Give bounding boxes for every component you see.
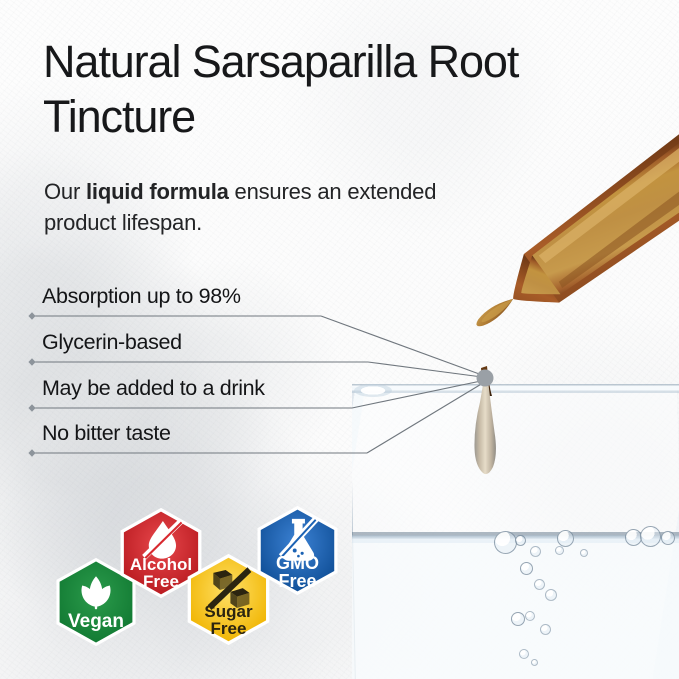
feature-item-2: Glycerin-based: [42, 330, 182, 355]
subtitle: Our liquid formula ensures an extended p…: [44, 176, 464, 238]
feature-item-1: Absorption up to 98%: [42, 284, 241, 309]
feature-item-3: May be added to a drink: [42, 376, 265, 401]
anchor-dot: [477, 370, 494, 387]
feature-item-4: No bitter taste: [42, 421, 171, 446]
product-infographic: Natural Sarsaparilla Root Tincture Our l…: [0, 0, 679, 679]
subtitle-emphasis: liquid formula: [86, 179, 229, 204]
certification-badges: Vegan: [36, 498, 366, 658]
leader-diagonal-4: [367, 383, 483, 453]
leader-markers: [28, 312, 35, 457]
leader-diagonal-3: [352, 381, 481, 408]
badge-gmo-free: GMO Free: [251, 504, 344, 597]
leader-diagonal-2: [368, 362, 482, 377]
page-title: Natural Sarsaparilla Root Tincture: [43, 34, 663, 144]
subtitle-part-1: Our: [44, 179, 86, 204]
badge-gmo-free-hexagon: [251, 504, 344, 597]
